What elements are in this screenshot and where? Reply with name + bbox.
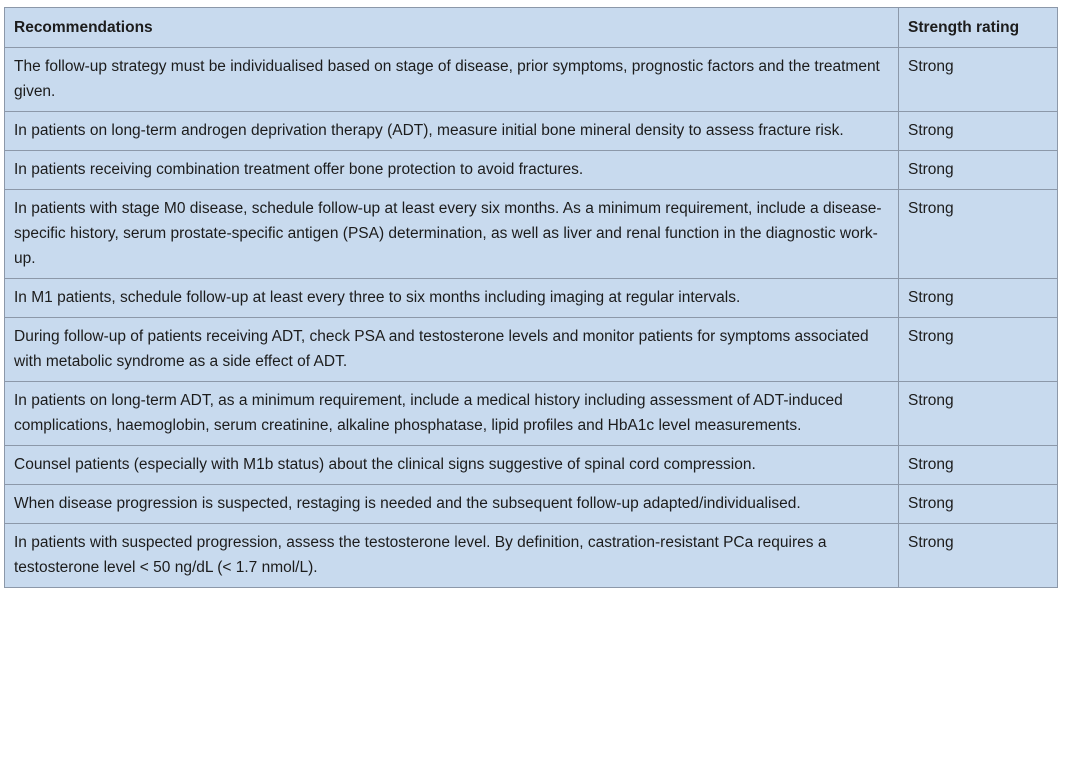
table-row: When disease progression is suspected, r… bbox=[5, 485, 1058, 524]
recommendation-text: The follow-up strategy must be individua… bbox=[14, 54, 889, 104]
strength-rating-cell: Strong bbox=[899, 112, 1058, 151]
table-row: In patients with suspected progression, … bbox=[5, 524, 1058, 588]
strength-rating-cell: Strong bbox=[899, 279, 1058, 318]
recommendation-text: In patients on long-term ADT, as a minim… bbox=[14, 388, 889, 438]
recommendation-cell: In patients receiving combination treatm… bbox=[5, 151, 899, 190]
strength-rating-cell: Strong bbox=[899, 524, 1058, 588]
recommendation-cell: In patients on long-term androgen depriv… bbox=[5, 112, 899, 151]
recommendations-table-container: Recommendations Strength rating The foll… bbox=[4, 7, 1057, 588]
recommendation-text: In patients with suspected progression, … bbox=[14, 530, 889, 580]
recommendation-text: When disease progression is suspected, r… bbox=[14, 491, 889, 516]
recommendation-text: In patients receiving combination treatm… bbox=[14, 157, 889, 182]
table-header: Recommendations Strength rating bbox=[5, 8, 1058, 48]
recommendation-text: Counsel patients (especially with M1b st… bbox=[14, 452, 889, 477]
recommendation-text: In patients with stage M0 disease, sched… bbox=[14, 196, 889, 271]
table-row: In M1 patients, schedule follow-up at le… bbox=[5, 279, 1058, 318]
column-header-strength-rating: Strength rating bbox=[899, 8, 1058, 48]
recommendation-cell: During follow-up of patients receiving A… bbox=[5, 318, 899, 382]
recommendation-cell: The follow-up strategy must be individua… bbox=[5, 48, 899, 112]
recommendation-cell: In patients on long-term ADT, as a minim… bbox=[5, 382, 899, 446]
table-row: In patients on long-term androgen depriv… bbox=[5, 112, 1058, 151]
table-row: Counsel patients (especially with M1b st… bbox=[5, 446, 1058, 485]
recommendation-cell: In M1 patients, schedule follow-up at le… bbox=[5, 279, 899, 318]
table-row: In patients receiving combination treatm… bbox=[5, 151, 1058, 190]
table-header-row: Recommendations Strength rating bbox=[5, 8, 1058, 48]
table-row: In patients with stage M0 disease, sched… bbox=[5, 190, 1058, 279]
recommendation-cell: When disease progression is suspected, r… bbox=[5, 485, 899, 524]
strength-rating-cell: Strong bbox=[899, 190, 1058, 279]
recommendation-text: In patients on long-term androgen depriv… bbox=[14, 118, 889, 143]
table-row: The follow-up strategy must be individua… bbox=[5, 48, 1058, 112]
table-row: In patients on long-term ADT, as a minim… bbox=[5, 382, 1058, 446]
strength-rating-cell: Strong bbox=[899, 151, 1058, 190]
strength-rating-cell: Strong bbox=[899, 48, 1058, 112]
table-row: During follow-up of patients receiving A… bbox=[5, 318, 1058, 382]
table-body: The follow-up strategy must be individua… bbox=[5, 48, 1058, 588]
recommendation-text: During follow-up of patients receiving A… bbox=[14, 324, 889, 374]
column-header-recommendations: Recommendations bbox=[5, 8, 899, 48]
strength-rating-cell: Strong bbox=[899, 446, 1058, 485]
strength-rating-cell: Strong bbox=[899, 318, 1058, 382]
recommendations-table: Recommendations Strength rating The foll… bbox=[4, 7, 1058, 588]
recommendation-text: In M1 patients, schedule follow-up at le… bbox=[14, 285, 889, 310]
recommendation-cell: In patients with stage M0 disease, sched… bbox=[5, 190, 899, 279]
strength-rating-cell: Strong bbox=[899, 485, 1058, 524]
strength-rating-cell: Strong bbox=[899, 382, 1058, 446]
recommendation-cell: In patients with suspected progression, … bbox=[5, 524, 899, 588]
recommendation-cell: Counsel patients (especially with M1b st… bbox=[5, 446, 899, 485]
